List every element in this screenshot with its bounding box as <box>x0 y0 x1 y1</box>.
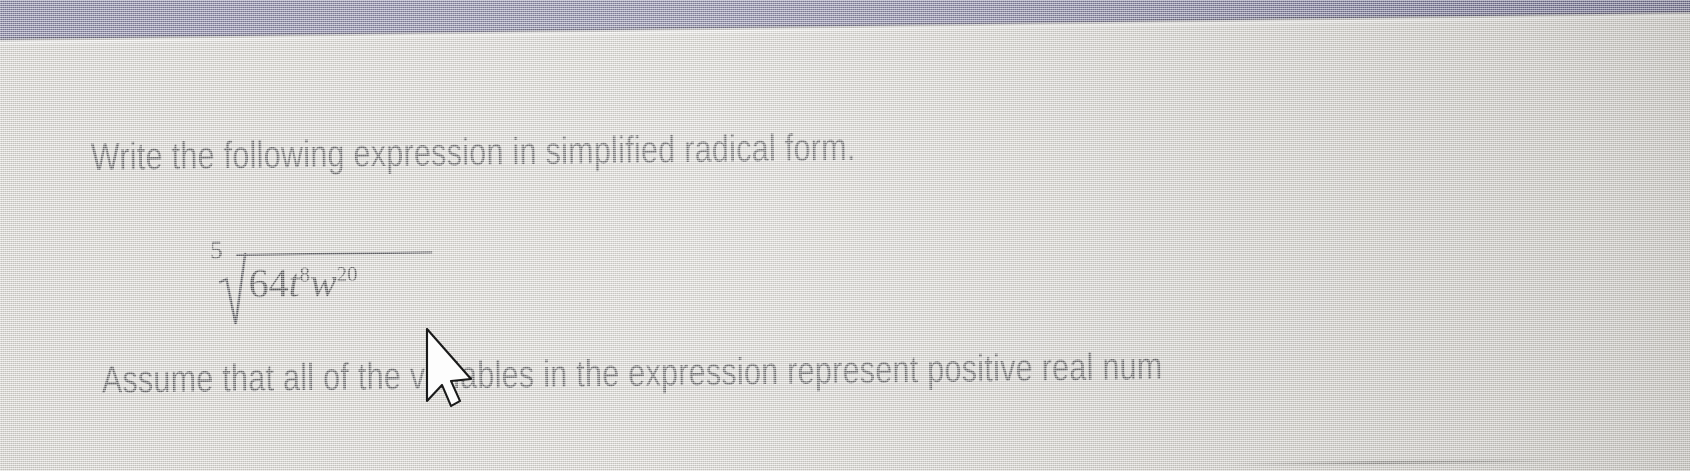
screenshot-root: Write the following expression in simpli… <box>0 0 1690 471</box>
radicand-exponent-t: 8 <box>299 264 310 287</box>
radicand-variable-w: w <box>310 260 337 305</box>
radicand: 64t8w20 <box>248 262 358 303</box>
radicand-variable-t: t <box>288 260 300 305</box>
radical-expression: 5 64t8w20 <box>210 234 211 326</box>
radical-vinculum <box>236 251 432 256</box>
instruction-text: Write the following expression in simpli… <box>91 127 856 180</box>
radicand-coefficient: 64 <box>248 260 289 306</box>
radicand-exponent-w: 20 <box>337 263 358 286</box>
radical-sign-icon <box>218 252 249 331</box>
assumption-text: Assume that all of the variables in the … <box>102 346 1163 403</box>
document-content: Write the following expression in simpli… <box>0 0 1690 471</box>
